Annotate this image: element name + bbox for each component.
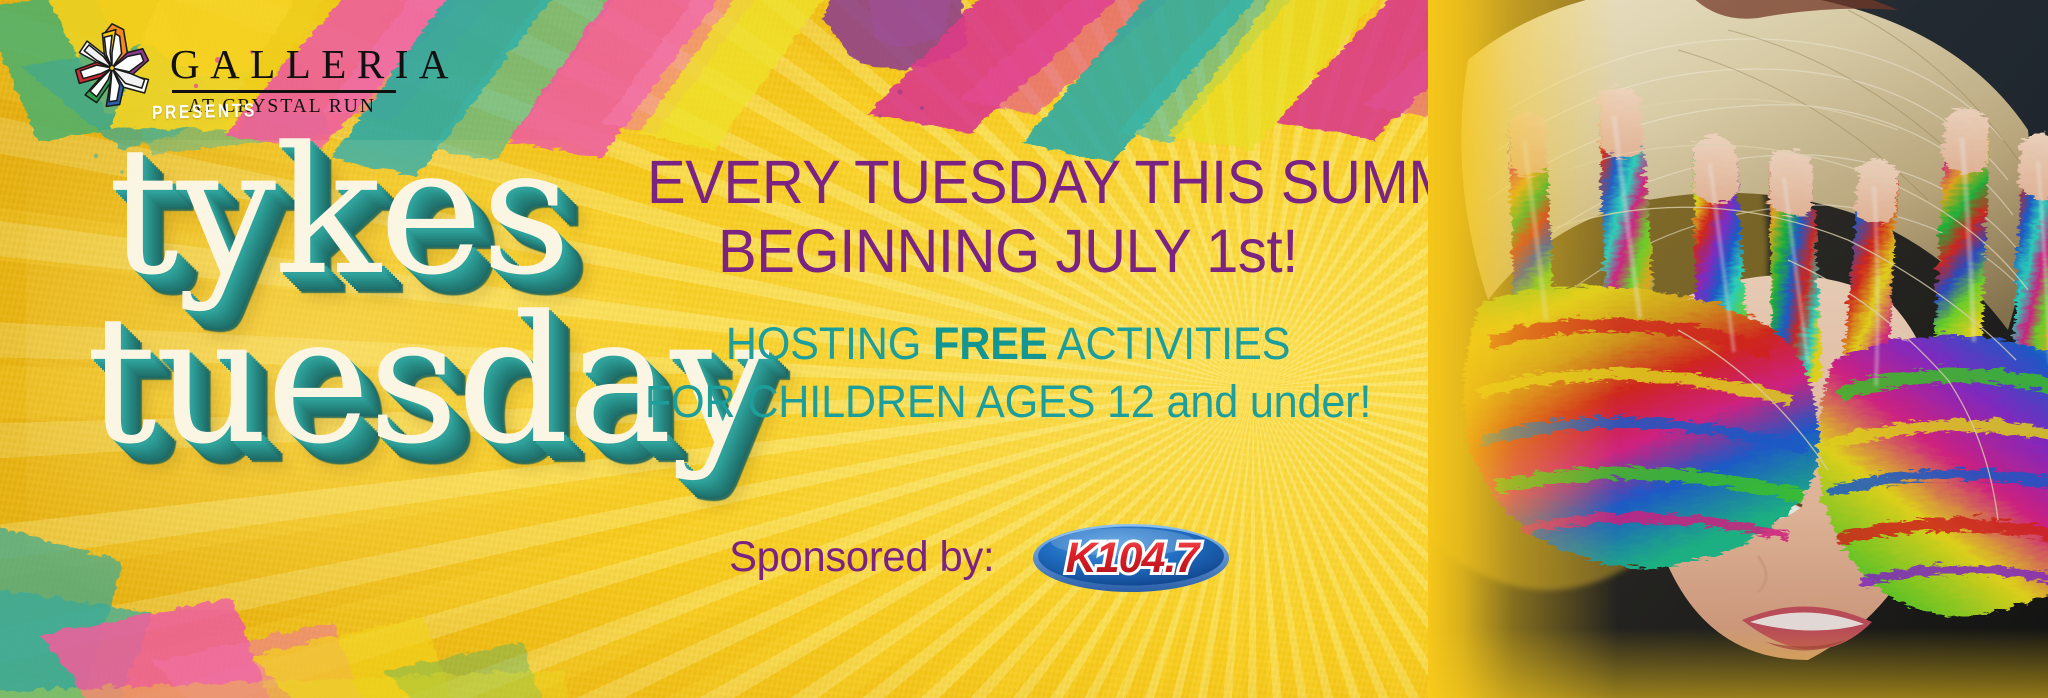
wordmark-line-tuesday: tuesday [86, 305, 706, 456]
headline-line-1: EVERY TUESDAY THIS SUMMER [647, 150, 1369, 216]
tykes-tuesday-wordmark: tykes tuesday [86, 136, 706, 457]
sponsored-by-label: Sponsored by: [729, 533, 994, 582]
k104-7-radio-logo[interactable]: K104.7 K104.7 [1031, 520, 1231, 594]
galleria-name: GALLERIA [170, 44, 396, 85]
headline-line-2: BEGINNING JULY 1st! [647, 219, 1369, 285]
child-paint-hands-photo [1428, 0, 2048, 698]
galleria-divider-rule [172, 90, 396, 93]
sponsor-row: Sponsored by: [628, 520, 1328, 594]
tykes-tuesday-promo-banner: GALLERIA AT CRYSTAL RUN PRESENTS tykes t… [0, 0, 2048, 698]
subhead-line-1-before: HOSTING [726, 318, 933, 369]
wordmark-line-tykes: tykes [108, 136, 706, 287]
subhead-line-1: HOSTING FREE ACTIVITIES [643, 317, 1373, 370]
subhead-line-1-after: ACTIVITIES [1047, 318, 1290, 369]
wordmark-line-tykes-text: tykes [108, 136, 569, 287]
subhead-line-2: FOR CHILDREN AGES 12 and under! [643, 375, 1373, 428]
svg-text:K104.7: K104.7 [1065, 534, 1201, 582]
subhead-free-emphasis: FREE [933, 318, 1047, 369]
promo-copy-block: EVERY TUESDAY THIS SUMMER BEGINNING JULY… [628, 150, 1388, 428]
galleria-pinwheel-icon [64, 20, 160, 116]
subhead-block: HOSTING FREE ACTIVITIES FOR CHILDREN AGE… [628, 317, 1388, 428]
